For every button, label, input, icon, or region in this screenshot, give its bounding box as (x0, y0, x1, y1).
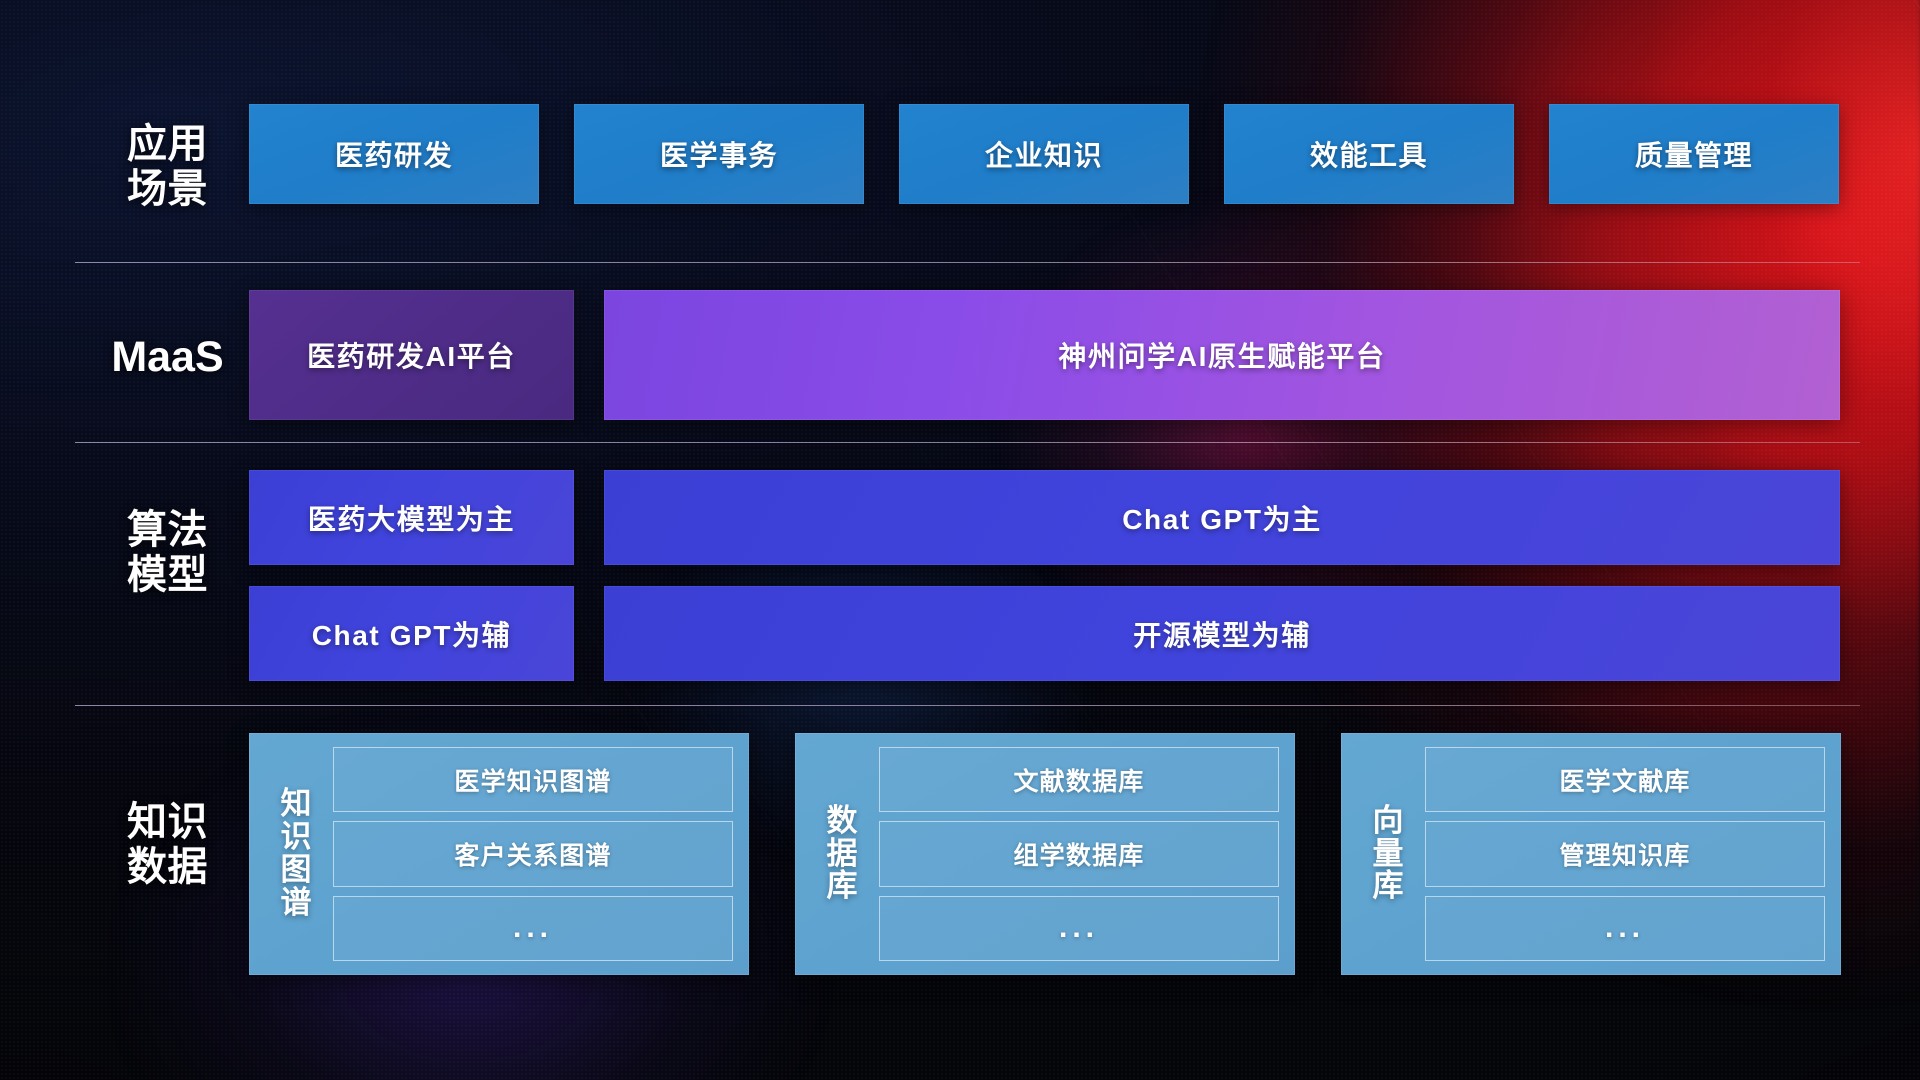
knowledge-group-vector-store[interactable]: 向 量 库 医学文献库 管理知识库 ... (1341, 733, 1841, 975)
algo-card-left-secondary[interactable]: Chat GPT为辅 (249, 586, 574, 681)
knowledge-group-database-title: 数 据 库 (805, 747, 879, 961)
row-label-knowledge-data: 知识 数据 (75, 800, 260, 890)
scenario-card-3[interactable]: 企业知识 (899, 104, 1189, 204)
knowledge-item-db-1[interactable]: 文献数据库 (879, 747, 1279, 812)
algo-card-right-primary[interactable]: Chat GPT为主 (604, 470, 1840, 565)
row-label-algorithm-model: 算法 模型 (75, 508, 260, 598)
knowledge-group-knowledge-graph[interactable]: 知 识 图 谱 医学知识图谱 客户关系图谱 ... (249, 733, 749, 975)
knowledge-item-vs-1[interactable]: 医学文献库 (1425, 747, 1825, 812)
knowledge-group-knowledge-graph-title: 知 识 图 谱 (259, 747, 333, 961)
scenario-card-1[interactable]: 医药研发 (249, 104, 539, 204)
scenario-card-3-label: 企业知识 (985, 134, 1103, 174)
knowledge-item-kg-1[interactable]: 医学知识图谱 (333, 747, 733, 812)
algo-card-right-secondary-label: 开源模型为辅 (1133, 614, 1311, 654)
maas-card-pharma-ai-platform-label: 医药研发AI平台 (307, 335, 516, 375)
algo-card-left-primary-label: 医药大模型为主 (308, 498, 515, 538)
knowledge-item-vs-2[interactable]: 管理知识库 (1425, 821, 1825, 886)
scenario-card-5[interactable]: 质量管理 (1549, 104, 1839, 204)
maas-card-pharma-ai-platform[interactable]: 医药研发AI平台 (249, 290, 574, 420)
knowledge-item-kg-2[interactable]: 客户关系图谱 (333, 821, 733, 886)
maas-card-shenzhou-platform[interactable]: 神州问学AI原生赋能平台 (604, 290, 1840, 420)
divider-scenarios-maas (75, 262, 1860, 263)
divider-maas-algo (75, 442, 1860, 443)
knowledge-item-db-2[interactable]: 组学数据库 (879, 821, 1279, 886)
knowledge-group-vector-store-title: 向 量 库 (1351, 747, 1425, 961)
algo-card-left-primary[interactable]: 医药大模型为主 (249, 470, 574, 565)
scenario-card-2[interactable]: 医学事务 (574, 104, 864, 204)
maas-card-shenzhou-platform-label: 神州问学AI原生赋能平台 (1058, 335, 1385, 375)
scenario-card-4-label: 效能工具 (1310, 134, 1428, 174)
row-label-maas: MaaS (75, 333, 260, 382)
divider-algo-knowledge (75, 705, 1860, 706)
scenario-card-4[interactable]: 效能工具 (1224, 104, 1514, 204)
knowledge-item-db-3[interactable]: ... (879, 896, 1279, 961)
scenario-card-2-label: 医学事务 (660, 134, 778, 174)
algo-card-right-primary-label: Chat GPT为主 (1122, 498, 1322, 538)
knowledge-group-database[interactable]: 数 据 库 文献数据库 组学数据库 ... (795, 733, 1295, 975)
row-label-scenarios: 应用 场景 (75, 122, 260, 212)
knowledge-item-kg-3[interactable]: ... (333, 896, 733, 961)
scenario-card-1-label: 医药研发 (335, 134, 453, 174)
algo-card-left-secondary-label: Chat GPT为辅 (312, 614, 512, 654)
scenario-card-5-label: 质量管理 (1635, 134, 1753, 174)
algo-card-right-secondary[interactable]: 开源模型为辅 (604, 586, 1840, 681)
knowledge-item-vs-3[interactable]: ... (1425, 896, 1825, 961)
